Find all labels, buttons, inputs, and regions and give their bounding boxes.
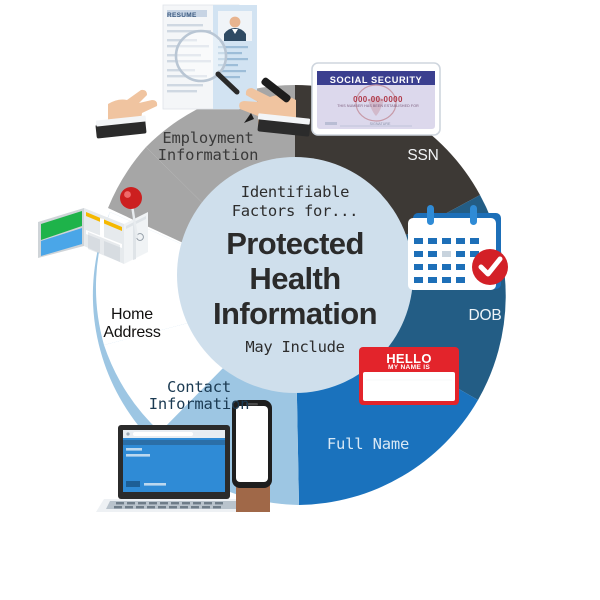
segment-label-employment: Employment Information: [108, 130, 308, 165]
center-pre-text: Identifiable Factors for...: [175, 183, 415, 220]
segment-label-ssn: SSN: [358, 147, 488, 164]
segment-label-full-name: Full Name: [288, 436, 448, 453]
center-post-text: May Include: [175, 338, 415, 356]
center-text-block: Identifiable Factors for... Protected He…: [175, 183, 415, 356]
infographic-canvas: SOCIAL SECURITY 000-00-0000 THIS NUMBER …: [0, 0, 600, 600]
page-title: Protected Health Information: [175, 227, 415, 331]
segment-label-contact: Contact Information: [104, 379, 294, 414]
segment-label-dob: DOB: [420, 307, 550, 324]
